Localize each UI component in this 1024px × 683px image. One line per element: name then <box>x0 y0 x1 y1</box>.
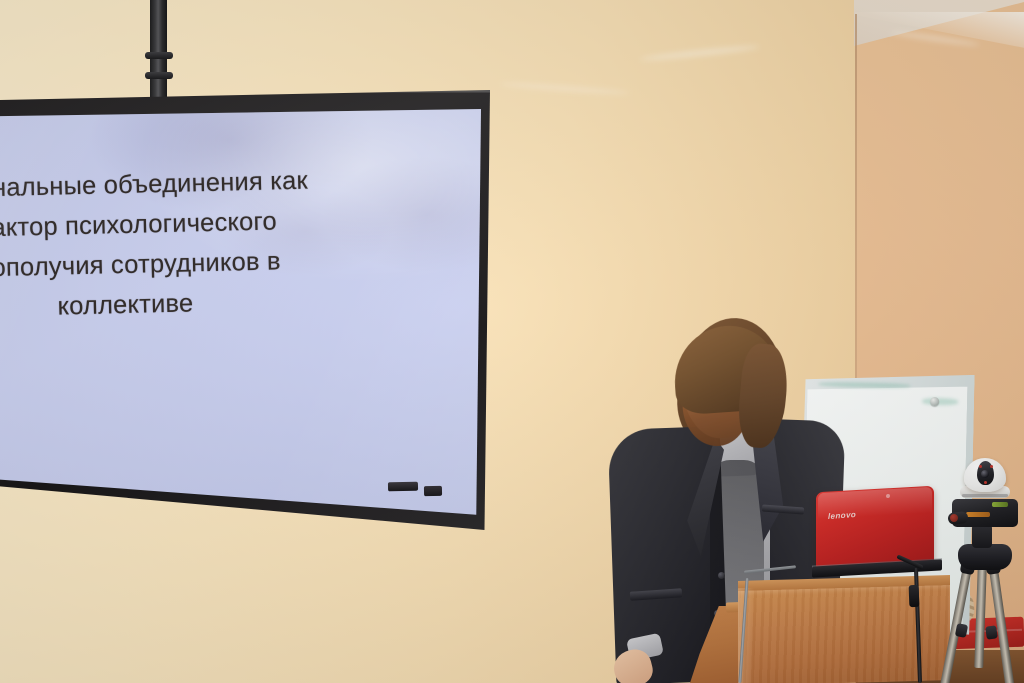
slide-title-text: ссиональные объединения как фактор психо… <box>0 157 446 332</box>
tripod-lock-knob[interactable] <box>950 514 958 522</box>
wall-mounted-tv[interactable]: ссиональные объединения как фактор психо… <box>0 90 490 530</box>
tripod-quick-release-plate[interactable] <box>966 512 990 517</box>
tripod-leg-lock-right[interactable] <box>985 625 998 639</box>
tv-ir-sensor <box>388 482 418 492</box>
tripod-leg-right <box>988 561 1015 683</box>
camera-tripod-rig[interactable] <box>946 450 1024 683</box>
ip-camera-ir-led-1 <box>979 465 982 468</box>
ip-camera-ir-led-3 <box>984 481 987 484</box>
cable-ferrite-bead <box>909 585 920 607</box>
tv-mount-bolt-upper <box>145 52 173 59</box>
tripod-head-level-indicator <box>992 502 1008 507</box>
tripod-leg-center <box>974 560 987 668</box>
whiteboard-marker-smudge-2 <box>922 398 958 406</box>
laptop[interactable]: lenovo <box>816 489 944 587</box>
tv-screen: ссиональные объединения как фактор психо… <box>0 107 481 521</box>
tv-logo-bump <box>424 486 442 496</box>
tripod-center-column <box>972 524 992 548</box>
ip-camera-lens <box>981 470 989 478</box>
tripod-leg-lock-left[interactable] <box>955 623 968 638</box>
ip-camera-base-band <box>962 494 1008 497</box>
tv-mount-bolt-lower <box>145 72 173 79</box>
photo-scene: ссиональные объединения как фактор психо… <box>0 0 1024 683</box>
tripod-leg-left <box>940 561 973 683</box>
ip-camera-ir-led-2 <box>990 465 993 468</box>
